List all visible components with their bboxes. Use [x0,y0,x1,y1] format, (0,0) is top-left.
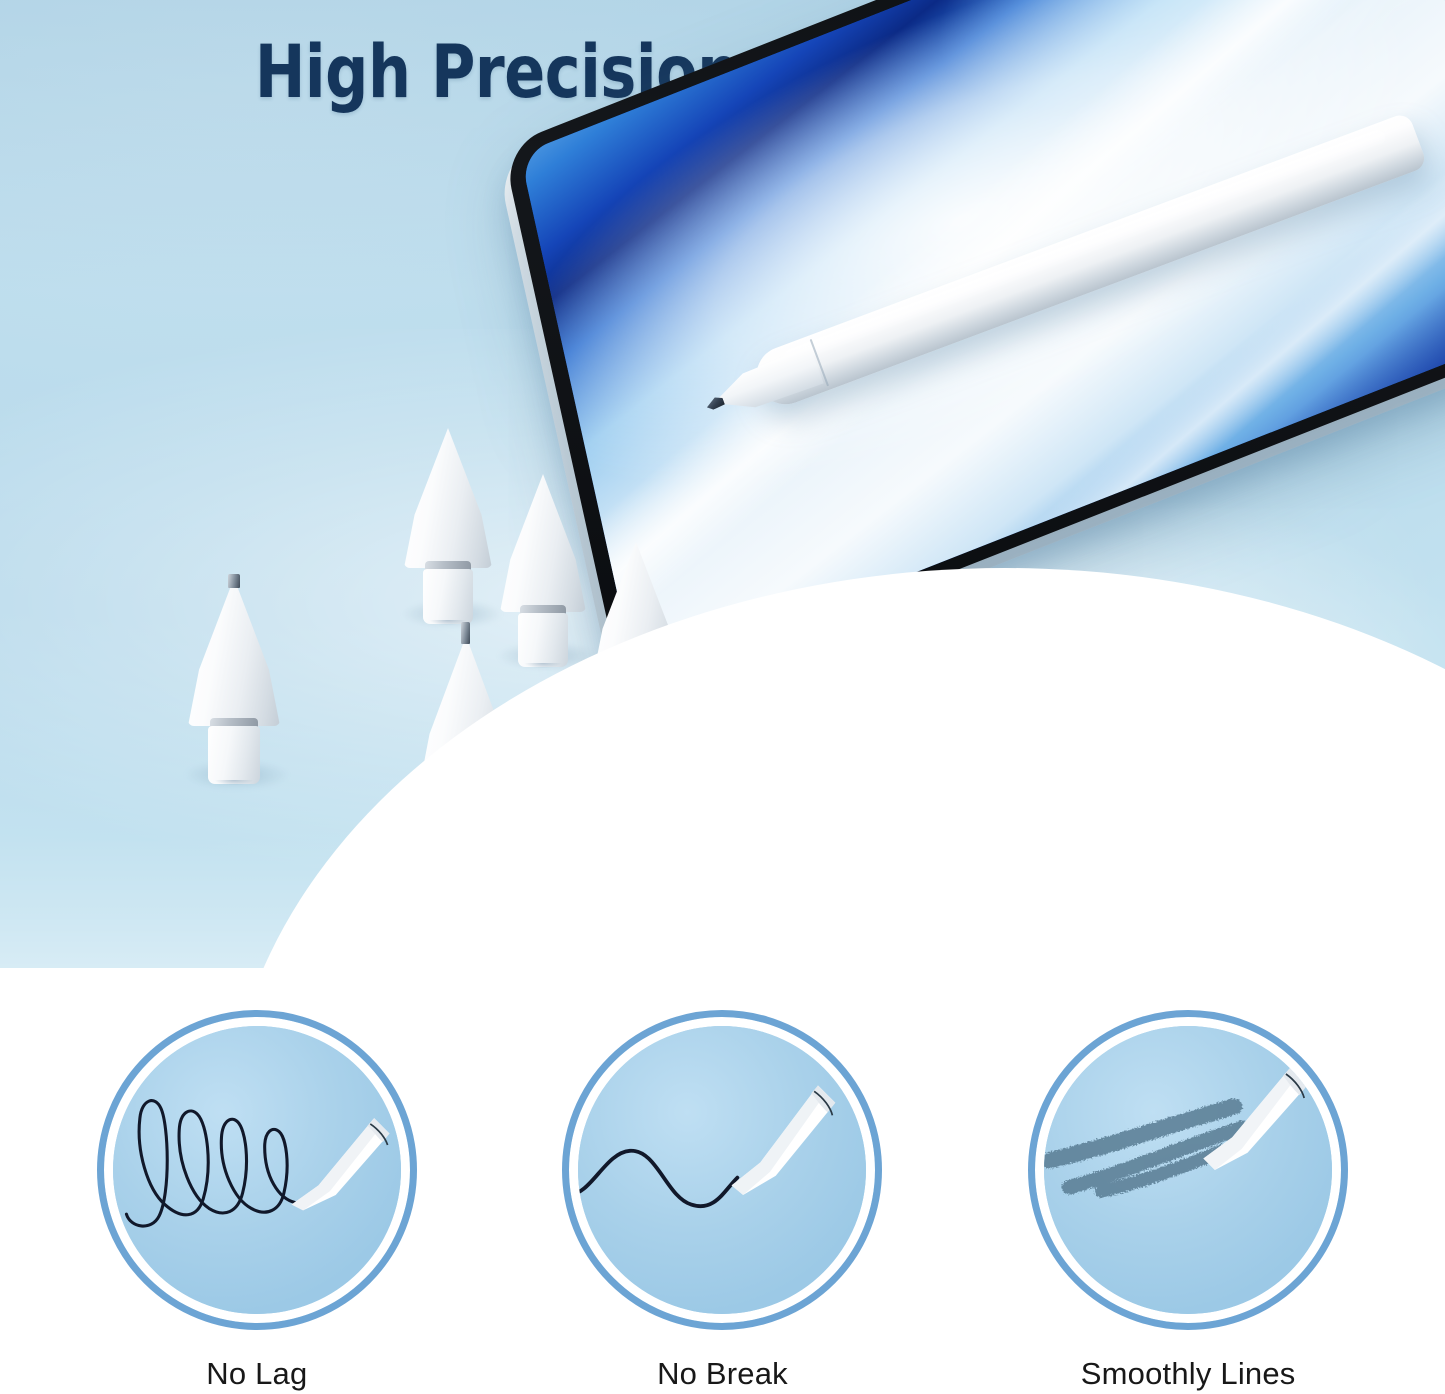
pen-tip-metal-pin [461,622,470,644]
sine-wave-with-pen-tip-icon [578,1026,866,1314]
pen-tip-metal-pin [228,574,240,588]
pen-tip-upright-2 [404,428,492,628]
feature-label: No Lag [47,1356,467,1392]
no-lag-icon-circle [97,1010,417,1330]
circle-fill [1044,1026,1332,1314]
smoothly-lines-icon-circle [1028,1010,1348,1330]
circle-fill [578,1026,866,1314]
hero-section: High Precision & Sensitivity [0,0,1445,968]
feature-no-lag: No Lag [47,1010,467,1392]
feature-no-break: No Break [512,1010,932,1392]
pen-tip-base [518,613,568,667]
features-section: No Lag No Break [0,968,1445,1394]
loops-scribble-with-pen-tip-icon [113,1026,401,1314]
pen-tip-upright-1 [188,578,280,790]
pen-tip-cone [188,578,280,726]
pen-tip-base [423,569,473,624]
feature-label: No Break [512,1356,932,1392]
pen-tip-base [208,726,260,784]
no-break-icon-circle [562,1010,882,1330]
feature-smoothly-lines: Smoothly Lines [978,1010,1398,1392]
feature-label: Smoothly Lines [978,1356,1398,1392]
pen-tip-cone [404,428,492,568]
circle-fill [113,1026,401,1314]
pen-tip-cone [500,474,586,612]
textured-strokes-with-pen-tip-icon [1044,1026,1332,1314]
